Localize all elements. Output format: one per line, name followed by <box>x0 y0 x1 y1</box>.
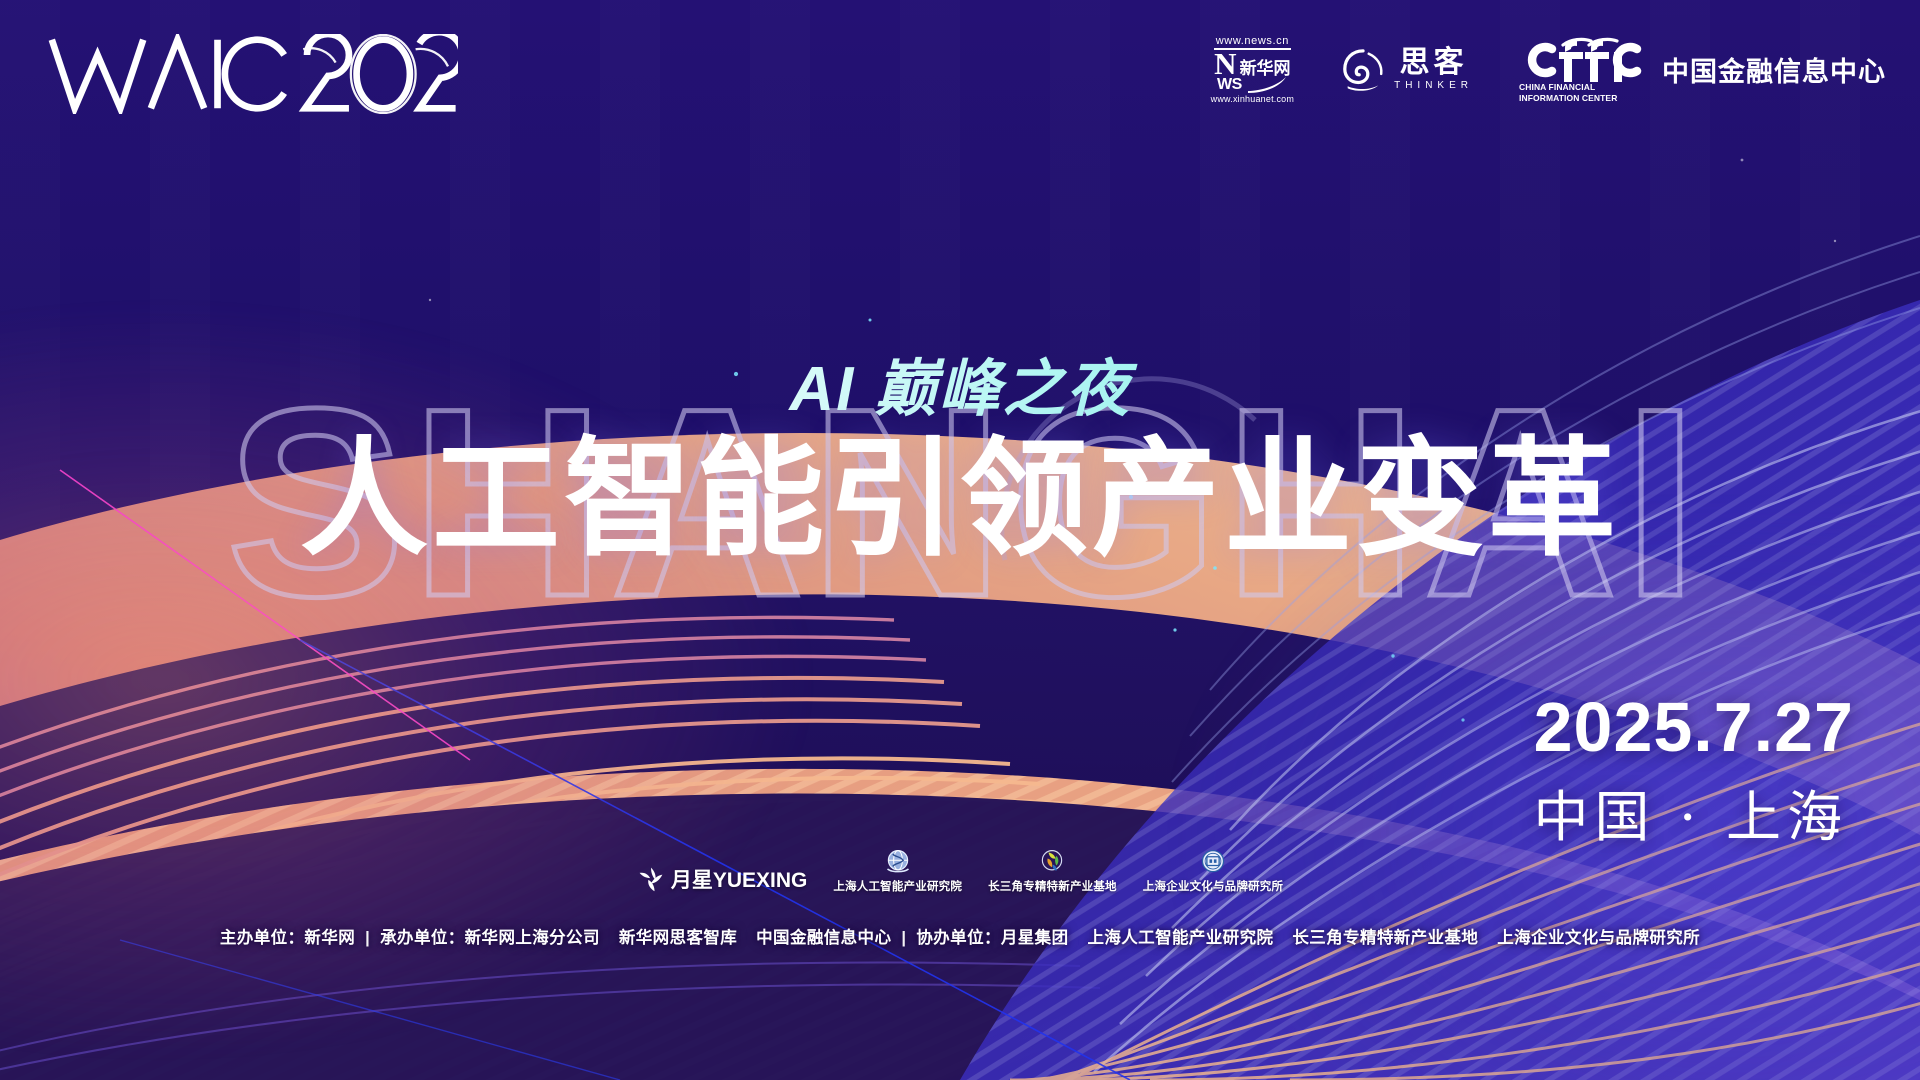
cfic-name-cn: 中国金融信息中心 <box>1662 50 1886 89</box>
xinhuanet-url-bottom: www.xinhuanet.com <box>1211 94 1294 104</box>
xinhuanet-swoosh-icon <box>1246 77 1288 93</box>
thinker-name-en: THINKER <box>1394 80 1473 91</box>
thinker-name-cn: 思客 <box>1400 48 1468 78</box>
sponsor-yuexing-label: 月星YUEXING <box>671 864 808 894</box>
footer-coorganizer-3: 长三角专精特新产业基地 <box>1292 929 1478 947</box>
footer-coorganizer-4: 上海企业文化与品牌研究所 <box>1497 929 1700 947</box>
thinker-logo: 思客 THINKER <box>1340 47 1473 93</box>
event-subtitle: AI 巅峰之夜 <box>0 338 1920 428</box>
sponsor-yangtze-delta-base: 长三角专精特新产业基地 <box>988 848 1117 894</box>
sponsor-logo-row: 月星YUEXING 上海人工智能产业研究院 长三角专精特新产业基 <box>0 848 1920 894</box>
sponsor-shanghai-ai-institute: 上海人工智能产业研究院 <box>833 848 962 894</box>
footer-coorganizer-1: 协办单位：月星集团 <box>916 929 1068 947</box>
footer-host: 主办单位：新华网 <box>220 929 355 947</box>
sponsor-yangtze-delta-base-label: 长三角专精特新产业基地 <box>988 878 1117 894</box>
xinhuanet-abbrev: WS <box>1217 78 1242 92</box>
footer-organizer-2: 新华网思客智库 <box>619 929 737 947</box>
footer-separator-1: | <box>355 929 380 947</box>
event-headline: 人工智能引领产业变革 <box>0 432 1920 568</box>
xinhuanet-name-cn: 新华网 <box>1240 60 1291 77</box>
event-location: 中国 · 上海 <box>1534 790 1848 845</box>
yuexing-star-icon <box>637 865 665 893</box>
footer-coorganizer-2: 上海人工智能产业研究院 <box>1087 929 1273 947</box>
cfic-logo: CHINA FINANCIAL INFORMATION CENTER 中国金融信… <box>1519 36 1886 103</box>
cfic-mark-icon <box>1519 36 1651 82</box>
sponsor-shanghai-culture-brand-institute-label: 上海企业文化与品牌研究所 <box>1143 878 1283 894</box>
poster-header: www.news.cn N 新华网 WS www.xinhuanet.com <box>0 0 1920 140</box>
sponsor-shanghai-ai-institute-label: 上海人工智能产业研究院 <box>833 878 962 894</box>
xinhuanet-initial: N <box>1214 51 1236 77</box>
sponsor-yuexing: 月星YUEXING <box>637 864 808 894</box>
cfic-name-en-line1: CHINA FINANCIAL <box>1519 83 1651 93</box>
event-date: 2025.7.27 <box>1534 692 1854 762</box>
footer-organizer-1: 承办单位：新华网上海分公司 <box>380 929 600 947</box>
footer-separator-2: | <box>891 929 916 947</box>
shanghai-culture-brand-institute-seal-icon <box>1199 848 1227 876</box>
cfic-name-en-line2: INFORMATION CENTER <box>1519 94 1651 104</box>
sponsor-shanghai-culture-brand-institute: 上海企业文化与品牌研究所 <box>1143 848 1283 894</box>
footer-credits: 主办单位：新华网|承办单位：新华网上海分公司 新华网思客智库 中国金融信息中心|… <box>0 924 1920 948</box>
poster-canvas: SHANGHAI <box>0 0 1920 1080</box>
partner-logos: www.news.cn N 新华网 WS www.xinhuanet.com <box>1211 36 1886 104</box>
yangtze-delta-base-emblem-icon <box>1038 848 1066 876</box>
xinhuanet-logo: www.news.cn N 新华网 WS www.xinhuanet.com <box>1211 36 1294 104</box>
footer-organizer-3: 中国金融信息中心 <box>756 929 891 947</box>
shanghai-ai-institute-globe-icon <box>884 848 912 876</box>
waic-2025-logo <box>48 34 458 114</box>
thinker-spiral-icon <box>1340 47 1386 93</box>
